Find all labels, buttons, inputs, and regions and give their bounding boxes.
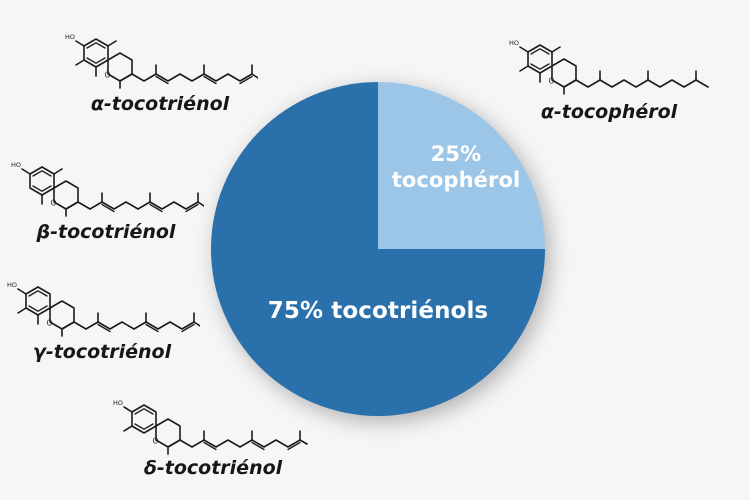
hydroxyl-label-gamma-tocotrienol: HO: [7, 281, 17, 289]
molecule-label-delta-tocotrienol: δ-tocotriénol: [108, 457, 318, 479]
molecule-label-alpha-tocotrienol: α-tocotriénol: [62, 93, 258, 115]
ring-oxygen-label-alpha-tocopherol: O: [549, 77, 555, 86]
structure-gamma-tocotrienol-diagram: HO O: [4, 272, 200, 340]
molecule-label-gamma-tocotrienol: γ-tocotriénol: [4, 341, 200, 363]
ring-oxygen-label-gamma-tocotrienol: O: [47, 319, 53, 328]
structure-alpha-tocotrienol-diagram: HO O: [62, 24, 258, 92]
structure-alpha-tocopherol-diagram: HO O: [500, 28, 718, 100]
ring-oxygen-label-alpha-tocotrienol: O: [105, 71, 111, 80]
molecule-gamma-tocotrienol: HO O γ-tocotriénol: [4, 272, 200, 363]
hydroxyl-label-alpha-tocopherol: HO: [509, 39, 519, 47]
molecule-delta-tocotrienol: HO O δ-tocotriénol: [104, 392, 318, 479]
molecule-label-alpha-tocopherol: α-tocophérol: [500, 101, 718, 123]
molecule-alpha-tocotrienol: HO O α-tocotri: [62, 24, 258, 115]
hydroxyl-label-alpha-tocotrienol: HO: [65, 33, 75, 41]
pie-chart: [211, 82, 545, 416]
molecule-alpha-tocopherol: HO O α-tocophérol: [500, 28, 718, 123]
pie-label-tocotrienols: 75% tocotriénols: [208, 297, 548, 325]
ring-oxygen-label-beta-tocotrienol: O: [51, 199, 57, 208]
hydroxyl-label-beta-tocotrienol: HO: [11, 161, 21, 169]
pie-label-tocopherol: 25% tocophérol: [372, 142, 540, 193]
figure-canvas: 25% tocophérol 75% tocotriénols HO O: [0, 0, 750, 500]
hydroxyl-label-delta-tocotrienol: HO: [113, 399, 123, 407]
ring-oxygen-label-delta-tocotrienol: O: [153, 437, 159, 446]
pie-slices: [211, 82, 545, 416]
structure-beta-tocotrienol-diagram: HO O: [8, 152, 204, 220]
molecule-beta-tocotrienol: HO O β-tocotriénol: [8, 152, 204, 243]
molecule-label-beta-tocotrienol: β-tocotriénol: [8, 221, 204, 243]
structure-delta-tocotrienol-diagram: HO O: [104, 392, 314, 456]
